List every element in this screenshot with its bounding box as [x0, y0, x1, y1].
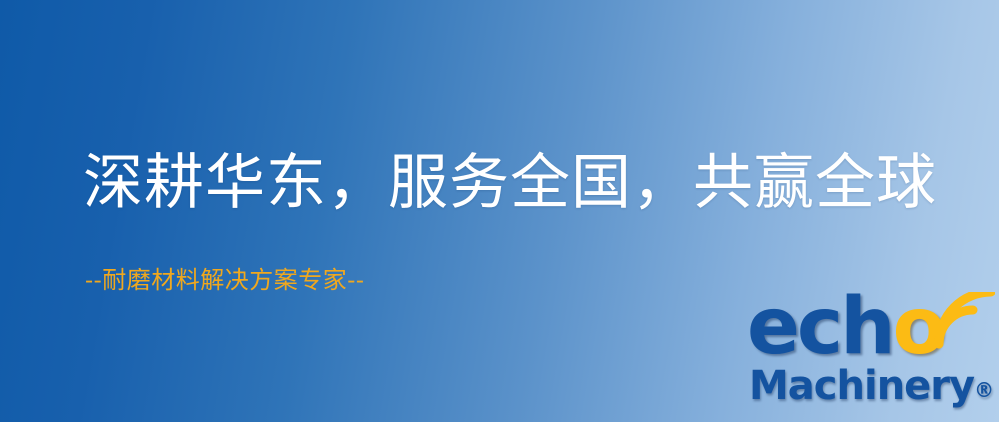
- banner-subtitle: --耐磨材料解决方案专家--: [85, 268, 364, 292]
- logo-echo-ech: ech: [747, 282, 893, 372]
- echo-machinery-logo[interactable]: echo Machinery®: [743, 292, 995, 420]
- logo-echo-text: echo: [747, 288, 943, 366]
- logo-echo-o: o: [893, 282, 944, 372]
- banner-headline: 深耕华东，服务全国，共赢全球: [83, 153, 937, 213]
- hero-banner: 深耕华东，服务全国，共赢全球 --耐磨材料解决方案专家-- echo Machi…: [0, 0, 999, 422]
- logo-company-name: Machinery®: [749, 366, 994, 406]
- registered-trademark-icon: ®: [974, 378, 994, 402]
- logo-machinery-text: Machinery: [749, 363, 974, 409]
